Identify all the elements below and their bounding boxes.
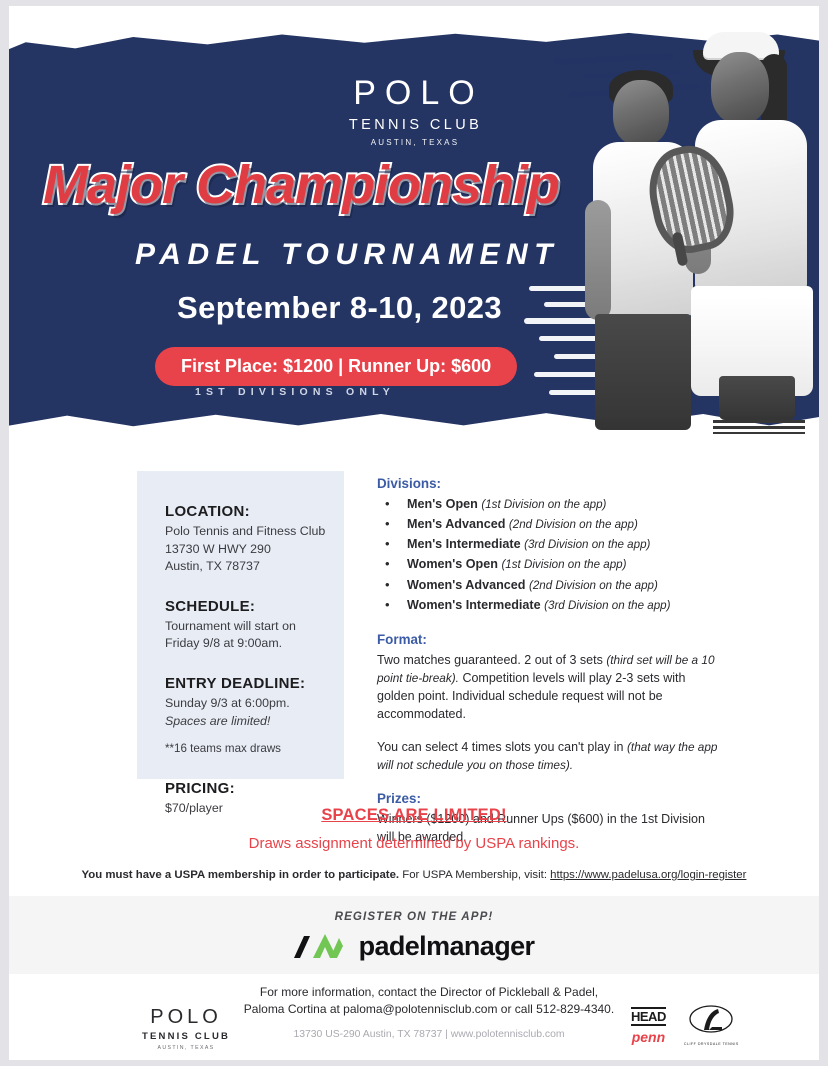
club-logo-line1: POLO	[9, 76, 819, 110]
division-note: (3rd Division on the app)	[524, 538, 650, 551]
contact-line-2: Paloma Cortina at paloma@polotennisclub.…	[239, 1001, 619, 1018]
event-date: September 8-10, 2023	[177, 290, 502, 326]
contact-line-1: For more information, contact the Direct…	[239, 984, 619, 1001]
footer-address: 13730 US-290 Austin, TX 78737 | www.polo…	[239, 1029, 619, 1040]
details-column: Divisions: Men's Open (1st Division on t…	[377, 476, 725, 846]
division-note: (1st Division on the app)	[481, 498, 606, 511]
padelmanager-logo[interactable]: padelmanager	[9, 931, 819, 962]
head-penn-logo: HEAD penn	[631, 1007, 666, 1044]
pricing-heading: PRICING:	[165, 780, 344, 797]
penn-wordmark: penn	[631, 1030, 666, 1044]
sponsor-logos: HEAD penn CLIFF DRYSDALE TENNIS	[631, 1004, 739, 1046]
entry-deadline-line-1: Sunday 9/3 at 6:00pm.	[165, 695, 344, 713]
prizes-heading: Prizes:	[377, 791, 725, 806]
event-title: Major Championship	[43, 158, 559, 212]
register-title: REGISTER ON THE APP!	[9, 896, 819, 923]
hero-banner: POLO TENNIS CLUB AUSTIN, TEXAS Major Cha…	[9, 16, 819, 444]
membership-bold: You must have a USPA membership in order…	[82, 869, 400, 881]
schedule-line-1: Tournament will start on	[165, 618, 344, 636]
footer-club-logo: POLO TENNIS CLUB AUSTIN, TEXAS	[142, 1007, 230, 1051]
divisions-heading: Divisions:	[377, 476, 725, 491]
footer-contact: For more information, contact the Direct…	[239, 984, 619, 1040]
register-band: REGISTER ON THE APP! padelmanager	[9, 896, 819, 974]
division-note: (1st Division on the app)	[501, 558, 626, 571]
format-paragraph-1: Two matches guaranteed. 2 out of 3 sets …	[377, 651, 725, 723]
footer-logo-line3: AUSTIN, TEXAS	[142, 1045, 230, 1051]
cliff-drysdale-mark-icon	[688, 1004, 734, 1036]
list-item: Men's Advanced (2nd Division on the app)	[377, 515, 725, 534]
flyer-page: POLO TENNIS CLUB AUSTIN, TEXAS Major Cha…	[0, 0, 828, 1066]
club-logo-line3: AUSTIN, TEXAS	[9, 138, 819, 147]
division-name: Men's Open	[407, 497, 478, 511]
membership-note: You must have a USPA membership in order…	[9, 869, 819, 881]
list-item: Women's Intermediate (3rd Division on th…	[377, 596, 725, 615]
divisions-only-note: 1ST DIVISIONS ONLY	[195, 386, 395, 398]
list-item: Men's Open (1st Division on the app)	[377, 495, 725, 514]
division-name: Women's Open	[407, 557, 498, 571]
cliff-drysdale-caption: CLIFF DRYSDALE TENNIS	[684, 1042, 739, 1046]
club-logo-line2: TENNIS CLUB	[9, 117, 819, 133]
padelmanager-wordmark: padelmanager	[359, 931, 535, 962]
division-name: Men's Intermediate	[407, 537, 521, 551]
event-subtitle: PADEL TOURNAMENT	[135, 238, 559, 272]
location-line-2: 13730 W HWY 290	[165, 541, 344, 559]
schedule-heading: SCHEDULE:	[165, 598, 344, 615]
club-logo: POLO TENNIS CLUB AUSTIN, TEXAS	[9, 76, 819, 147]
uspa-membership-link[interactable]: https://www.padelusa.org/login-register	[550, 869, 746, 881]
location-line-1: Polo Tennis and Fitness Club	[165, 523, 344, 541]
draws-assignment-note: Draws assignment determined by USPA rank…	[9, 835, 819, 852]
entry-deadline-heading: ENTRY DEADLINE:	[165, 675, 344, 692]
format-paragraph-2: You can select 4 times slots you can't p…	[377, 738, 725, 774]
division-name: Women's Advanced	[407, 578, 525, 592]
division-note: (2nd Division on the app)	[509, 518, 638, 531]
list-item: Men's Intermediate (3rd Division on the …	[377, 535, 725, 554]
cliff-drysdale-logo: CLIFF DRYSDALE TENNIS	[684, 1004, 739, 1046]
list-item: Women's Open (1st Division on the app)	[377, 555, 725, 574]
division-note: (2nd Division on the app)	[529, 579, 658, 592]
head-wordmark: HEAD	[631, 1007, 666, 1026]
location-heading: LOCATION:	[165, 503, 344, 520]
entry-deadline-note: **16 teams max draws	[165, 741, 344, 757]
membership-rest: For USPA Membership, visit:	[399, 869, 550, 881]
padelmanager-mark-icon	[294, 932, 348, 962]
spaces-limited-headline: SPACES ARE LIMITED!	[9, 806, 819, 825]
footer-logo-line2: TENNIS CLUB	[142, 1031, 230, 1042]
divisions-list: Men's Open (1st Division on the app) Men…	[377, 495, 725, 615]
format-text-a: Two matches guaranteed. 2 out of 3 sets	[377, 653, 606, 667]
format2-text-a: You can select 4 times slots you can't p…	[377, 740, 627, 754]
limited-section: SPACES ARE LIMITED! Draws assignment det…	[9, 806, 819, 881]
entry-deadline-line-2: Spaces are limited!	[165, 713, 344, 731]
prize-badge: First Place: $1200 | Runner Up: $600	[155, 347, 517, 386]
schedule-line-2: Friday 9/8 at 9:00am.	[165, 635, 344, 653]
info-box: LOCATION: Polo Tennis and Fitness Club 1…	[137, 471, 344, 779]
location-line-3: Austin, TX 78737	[165, 558, 344, 576]
list-item: Women's Advanced (2nd Division on the ap…	[377, 576, 725, 595]
division-name: Men's Advanced	[407, 517, 505, 531]
division-note: (3rd Division on the app)	[544, 599, 670, 612]
format-heading: Format:	[377, 632, 725, 647]
flyer-sheet: POLO TENNIS CLUB AUSTIN, TEXAS Major Cha…	[9, 6, 819, 1060]
division-name: Women's Intermediate	[407, 598, 541, 612]
footer-logo-line1: POLO	[142, 1007, 230, 1027]
